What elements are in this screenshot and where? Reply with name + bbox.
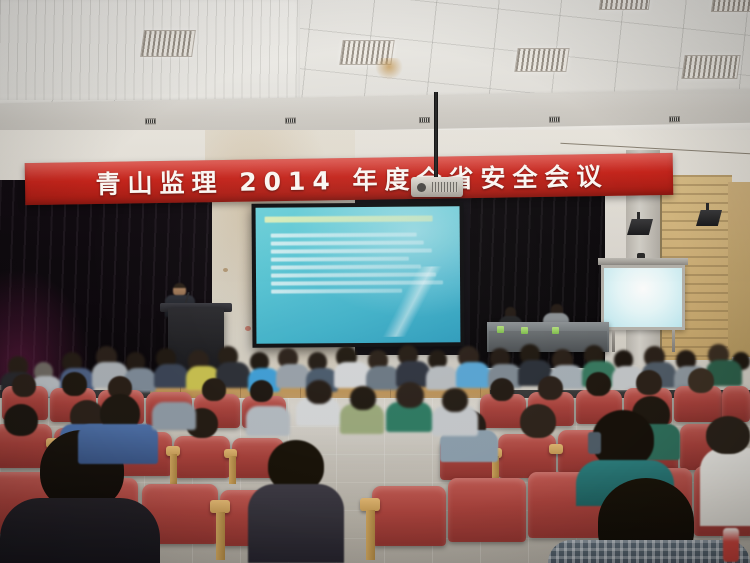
conference-hall-photo: 青山监理 2014 年度全省安全会议 — [0, 0, 750, 563]
auditorium-seat — [372, 486, 446, 546]
audience-head — [4, 404, 38, 436]
ceiling-light-fixture — [711, 0, 750, 12]
seat-armrest-leg — [170, 454, 177, 486]
ceiling-projector — [411, 177, 463, 197]
secondary-screen-leg — [612, 330, 615, 352]
projection-screen-surface — [256, 206, 461, 343]
slide-bullet — [271, 257, 409, 262]
audience-head — [250, 380, 273, 402]
mobile-phone-icon — [588, 432, 601, 454]
audience-torso — [248, 484, 344, 563]
auditorium-seat — [448, 478, 526, 542]
ceiling-vent — [549, 116, 560, 122]
ceiling-stain — [375, 58, 403, 80]
ceiling-vent — [419, 117, 430, 123]
audience-head — [538, 376, 563, 400]
secondary-screen-leg — [672, 330, 675, 352]
audience-head — [442, 388, 468, 412]
audience-head — [688, 368, 714, 393]
ceiling-light-fixture — [514, 48, 569, 72]
projector-pole — [434, 92, 438, 180]
seat-armrest-leg — [216, 512, 225, 560]
audience-torso — [456, 362, 490, 388]
ceiling-light-fixture — [140, 30, 196, 57]
seat-armrest — [549, 444, 563, 454]
audience-head — [706, 416, 750, 454]
secondary-screen — [601, 265, 685, 330]
ceiling-vent — [285, 118, 296, 124]
slide-bullet — [271, 241, 424, 246]
audience-torso — [152, 402, 196, 430]
seat-armrest-leg — [229, 456, 236, 484]
ceiling-vent — [145, 118, 156, 124]
audience-torso — [426, 366, 458, 390]
audience-head — [396, 382, 424, 408]
wall-lamp-arm — [706, 203, 709, 211]
ceiling-light-fixture — [681, 55, 740, 79]
audience-head — [520, 404, 556, 438]
audience-torso — [334, 362, 370, 388]
wall-speck — [223, 268, 228, 272]
projector-lens-icon — [417, 183, 426, 192]
slide-bullet — [271, 248, 432, 253]
audience-torso — [548, 540, 750, 563]
audience-head — [586, 372, 611, 396]
secondary-screen-housing — [598, 258, 688, 265]
wall-speck — [245, 326, 251, 331]
audience-torso — [276, 364, 310, 388]
audience-head — [490, 378, 514, 401]
water-cup — [552, 327, 559, 334]
audience-torso — [366, 366, 400, 390]
projection-screen — [251, 202, 464, 347]
screen-glare — [360, 266, 461, 337]
projector-vent — [432, 182, 458, 192]
window-blind-secondary — [728, 182, 750, 357]
audience-torso — [0, 498, 160, 563]
ceiling-vent — [669, 116, 680, 122]
audience-torso — [78, 424, 158, 464]
water-cup — [497, 326, 504, 333]
water-cup — [521, 327, 528, 334]
audience-head — [636, 370, 662, 395]
wall-lamp-arm — [637, 212, 640, 220]
ceiling-light-fixture — [599, 0, 652, 10]
audience-torso — [154, 364, 188, 388]
water-bottle — [723, 528, 739, 562]
audience-torso — [700, 448, 750, 526]
audience-head — [306, 380, 332, 404]
audience-head — [350, 386, 376, 410]
auditorium-seat — [174, 436, 230, 478]
slide-bullet — [271, 233, 417, 238]
slide-title-line — [265, 215, 433, 222]
audience-head — [12, 374, 36, 397]
seat-armrest-leg — [366, 510, 375, 560]
audience-head — [62, 372, 87, 396]
audience-head — [202, 378, 226, 401]
audience-torso — [246, 406, 290, 436]
